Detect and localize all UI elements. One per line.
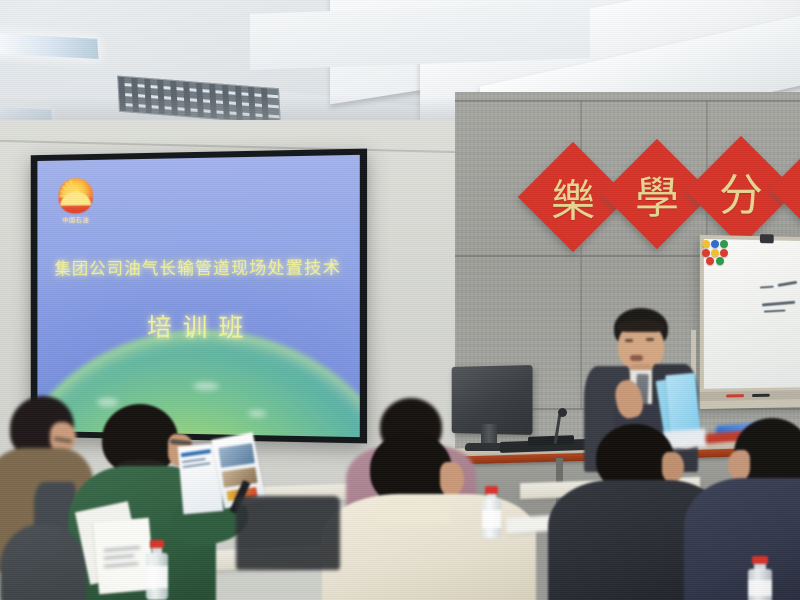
- magnet-red-1[interactable]: [702, 249, 710, 257]
- magnet-blue-1[interactable]: [711, 240, 719, 248]
- magnet-green-1[interactable]: [720, 240, 728, 248]
- classroom-photo: 中国石油 集团公司油气长输管道现场处置技术 培训班 樂 學 分 享: [0, 0, 800, 600]
- magnet-green-2[interactable]: [716, 257, 724, 265]
- attendee-cream-jacket: [322, 432, 552, 600]
- cnpc-logo: 中国石油: [56, 178, 94, 228]
- attendee-navy-suit-right: [690, 418, 800, 600]
- stone-wall-seam-1: [455, 100, 800, 102]
- bottle-cap-center: [485, 486, 497, 494]
- water-bottle-left[interactable]: [146, 540, 168, 600]
- speaker-fringe: [618, 320, 664, 332]
- magnet-red-2[interactable]: [720, 249, 728, 257]
- bottle-label-left: [146, 566, 168, 588]
- speaker-eye-right: [646, 338, 654, 341]
- slide-title-line2: 培训班: [37, 308, 359, 345]
- speaker-mouth: [630, 355, 643, 361]
- ceiling-panel-center: [250, 2, 590, 70]
- whiteboard-writing-1: [760, 286, 774, 289]
- whiteboard-magnets[interactable]: [702, 240, 736, 264]
- magnet-yellow-1[interactable]: [702, 240, 710, 248]
- projected-slide: 中国石油 集团公司油气长输管道现场处置技术 培训班: [37, 155, 359, 437]
- whiteboard-clip[interactable]: [760, 234, 774, 243]
- water-bottle-center[interactable]: [482, 486, 501, 538]
- whiteboard-writing-3: [762, 301, 795, 307]
- attendee-dark-ear: [662, 452, 684, 482]
- wall-plaque-1-glyph: 樂: [534, 158, 612, 236]
- attendee-navy-ear: [728, 450, 750, 480]
- wall-plaque-3-glyph: 分: [702, 152, 780, 230]
- wall-plaque-4-glyph: 享: [786, 150, 800, 228]
- cnpc-logo-text: 中国石油: [56, 214, 94, 224]
- bottle-cap-right: [752, 556, 767, 564]
- magnet-yellow-2[interactable]: [711, 249, 719, 257]
- whiteboard-marker-black[interactable]: [752, 394, 770, 397]
- water-bottle-right[interactable]: [748, 556, 772, 600]
- whiteboard-marker-red[interactable]: [726, 394, 744, 397]
- microphone-head-1[interactable]: [558, 408, 567, 417]
- bottle-cap-left: [150, 540, 164, 548]
- magnet-red-3[interactable]: [706, 257, 714, 265]
- attendee-cream-ear: [440, 462, 464, 496]
- chair-back-1: [236, 496, 340, 570]
- speaker-eye-left: [625, 339, 633, 342]
- attendee-navy-torso: [684, 478, 800, 600]
- attendee-foreground-head: [0, 524, 86, 600]
- bottle-label-center: [482, 510, 501, 528]
- bottle-label-right: [748, 580, 772, 596]
- whiteboard-writing-4: [764, 310, 786, 313]
- attendee-cream-collar: [378, 500, 450, 524]
- wall-plaque-2-glyph: 學: [618, 155, 696, 233]
- whiteboard-writing-2: [778, 281, 798, 287]
- whiteboard-tray: [700, 390, 800, 401]
- slide-title-line1: 集团公司油气长输管道现场处置技术: [37, 253, 359, 279]
